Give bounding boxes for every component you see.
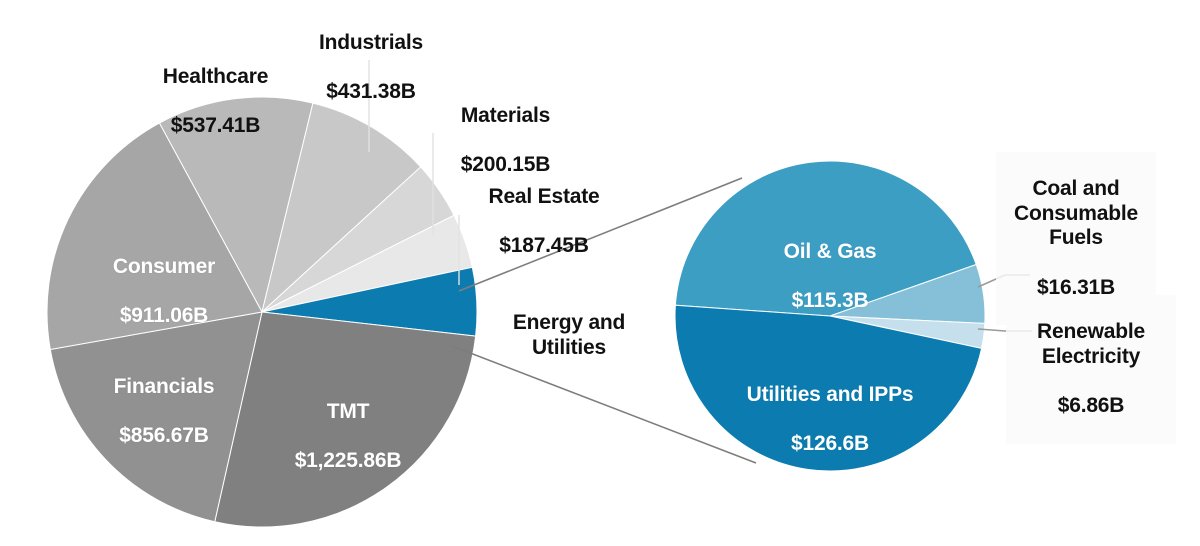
label-oil-and-gas: Oil & Gas $115.3B [730,215,930,339]
label-financials-value: $856.67B [74,424,254,449]
label-real-estate-value: $187.45B [460,234,628,259]
label-utilities-and-ipps: Utilities and IPPs $126.6B [704,358,956,482]
label-tmt-value: $1,225.86B [248,449,448,474]
label-energy-and-utilities-name: Energy and Utilities [485,311,653,361]
label-renewable-electricity-name: Renewable Electricity [1006,320,1176,370]
label-industrials-name: Industrials [290,31,452,56]
label-healthcare: Healthcare $537.41B [123,40,308,164]
label-utilities-and-ipps-name: Utilities and IPPs [704,383,956,408]
label-consumer-value: $911.06B [74,304,254,329]
chart-canvas: Healthcare $537.41B Industrials $431.38B… [0,0,1200,546]
label-healthcare-value: $537.41B [123,114,308,139]
label-industrials-value: $431.38B [290,80,452,105]
label-materials-name: Materials [429,104,582,129]
label-healthcare-name: Healthcare [123,65,308,90]
label-coal-and-consumable-fuels-name: Coal and Consumable Fuels [996,177,1156,251]
label-financials-name: Financials [74,375,254,400]
label-industrials: Industrials $431.38B [290,6,452,130]
label-renewable-electricity-value: $6.86B [1006,394,1176,419]
label-utilities-and-ipps-value: $126.6B [704,432,956,457]
label-consumer-name: Consumer [74,255,254,280]
label-real-estate-name: Real Estate [460,185,628,210]
label-oil-and-gas-name: Oil & Gas [730,240,930,265]
label-renewable-electricity: Renewable Electricity $6.86B [1006,295,1176,444]
label-consumer: Consumer $911.06B [74,230,254,354]
label-real-estate: Real Estate $187.45B [460,160,628,284]
label-oil-and-gas-value: $115.3B [730,289,930,314]
label-tmt-name: TMT [248,400,448,425]
label-financials: Financials $856.67B [74,350,254,474]
label-energy-and-utilities: Energy and Utilities [485,286,653,385]
label-tmt: TMT $1,225.86B [248,375,448,499]
